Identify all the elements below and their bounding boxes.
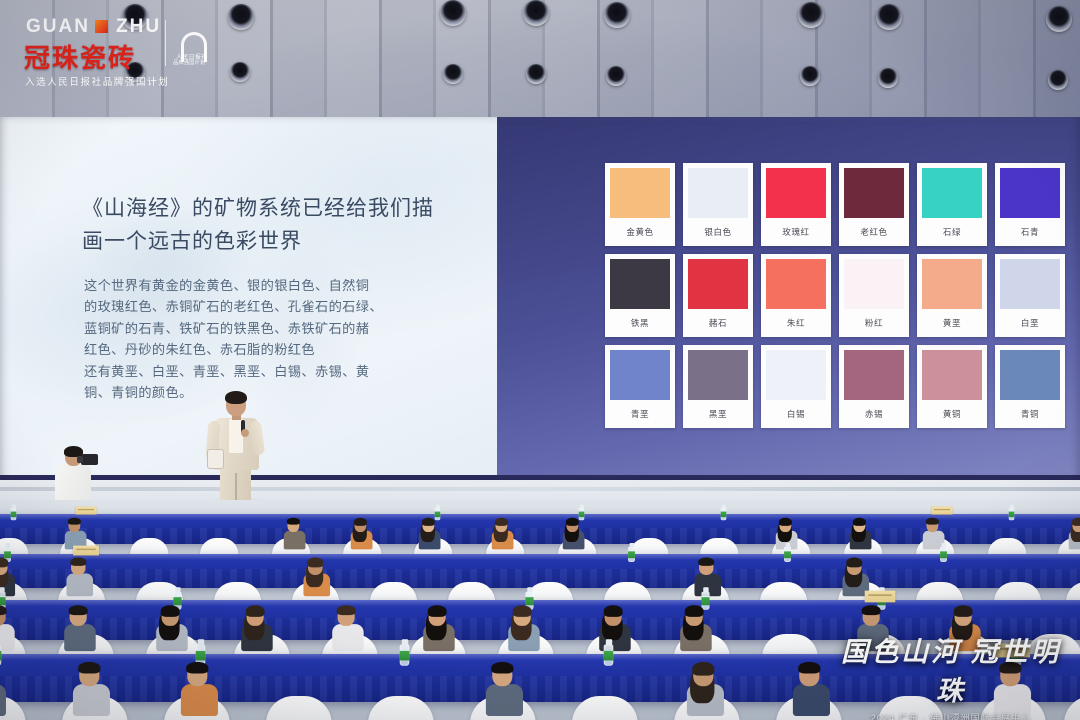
swatch-label: 黄铜 — [922, 400, 982, 428]
color-swatch-card: 黑垩 — [683, 345, 753, 428]
swatch-color-chip — [1000, 259, 1060, 309]
swatch-color-chip — [766, 350, 826, 400]
swatch-color-chip — [766, 259, 826, 309]
brand-logo: GUAN ZHU 冠珠瓷砖 入选人民日报社品牌强国计划 人民日报社 品牌强国计划 — [22, 16, 212, 90]
member-hair-top — [847, 558, 863, 568]
color-swatch-card: 粉红 — [839, 254, 909, 337]
color-swatch-card: 赭石 — [683, 254, 753, 337]
member-hair-top — [853, 518, 866, 526]
water-bottle-icon — [0, 639, 1, 666]
brand-name-cn: 冠珠瓷砖 — [24, 38, 136, 75]
member-torso — [0, 624, 14, 651]
swatch-label: 粉红 — [844, 309, 904, 337]
member-hair-top — [862, 605, 881, 615]
member-hair-top — [495, 518, 508, 526]
slide-body-line: 这个世界有黄金的金黄色、银的银白色、自然铜 — [84, 275, 434, 296]
member-hair-top — [698, 558, 714, 566]
swatch-color-chip — [688, 168, 748, 218]
name-card-icon — [864, 591, 895, 603]
member-hair-top — [798, 662, 820, 674]
swatch-color-chip — [688, 350, 748, 400]
color-swatch-card: 老红色 — [839, 163, 909, 246]
event-title: 国色山河 冠世明珠 — [836, 630, 1066, 708]
swatch-label: 金黄色 — [610, 218, 670, 246]
swatch-color-chip — [922, 259, 982, 309]
chair-back — [572, 696, 638, 720]
water-bottle-icon — [940, 543, 947, 562]
brand-name-en-right: ZHU — [116, 16, 161, 38]
member-hair-top — [245, 605, 264, 617]
swatch-color-chip — [766, 168, 826, 218]
member-hair-top — [513, 605, 532, 617]
audience-member — [777, 519, 794, 537]
spotlight-icon — [606, 66, 626, 86]
audience-member — [696, 559, 721, 586]
event-logo: 国色山河 冠世明珠 2024 广东 · 佛山潭洲国际会展中心 — [836, 630, 1066, 682]
spotlight-icon — [443, 64, 463, 84]
member-torso — [181, 684, 218, 716]
slide-body-line: 的玫瑰红色、赤铜矿石的老红色、孔雀石的石绿、 — [84, 296, 434, 317]
swatch-label: 赤锡 — [844, 400, 904, 428]
member-hair-top — [953, 605, 972, 617]
color-swatch-card: 石绿 — [917, 163, 987, 246]
chair-back — [1064, 696, 1080, 720]
audience-member — [924, 519, 941, 537]
color-swatch-card: 白锡 — [761, 345, 831, 428]
slide-heading: 《山海经》的矿物系统已经给我们描画一个远古的色彩世界 — [82, 192, 452, 257]
audience-member — [158, 607, 194, 644]
led-presentation-screen: 《山海经》的矿物系统已经给我们描画一个远古的色彩世界 这个世界有黄金的金黄色、银… — [0, 117, 1080, 487]
swatch-label: 石青 — [1000, 218, 1060, 246]
swatch-color-chip — [1000, 168, 1060, 218]
member-hair-top — [492, 662, 514, 674]
spotlight-icon — [230, 62, 250, 82]
swatch-color-chip — [844, 168, 904, 218]
swatch-label: 银白色 — [688, 218, 748, 246]
name-card-icon — [73, 546, 99, 556]
audience-member — [352, 519, 369, 537]
partner-arch-icon: 人民日报社 品牌强国计划 — [174, 32, 214, 66]
swatch-label: 老红色 — [844, 218, 904, 246]
audience-member — [564, 519, 581, 537]
color-swatch-card: 石青 — [995, 163, 1065, 246]
water-bottle-icon — [604, 639, 614, 666]
swatch-color-chip — [844, 350, 904, 400]
speaker-hair — [225, 391, 247, 404]
audience-member — [68, 559, 93, 586]
water-bottle-icon — [578, 505, 584, 521]
speaker-hand — [241, 429, 249, 437]
member-torso — [793, 684, 830, 716]
swatch-label: 黑垩 — [688, 400, 748, 428]
swatch-color-chip — [1000, 350, 1060, 400]
color-swatch-card: 黄铜 — [917, 345, 987, 428]
member-hair-top — [354, 518, 367, 526]
audience-chair — [1064, 696, 1080, 720]
color-swatch-card: 白垩 — [995, 254, 1065, 337]
water-bottle-icon — [400, 639, 410, 666]
audience-chair — [266, 696, 332, 720]
swatch-color-chip — [610, 168, 670, 218]
logo-divider — [165, 20, 166, 66]
member-hair-top — [287, 518, 300, 525]
spotlight-icon — [1046, 6, 1072, 32]
member-hair-top — [778, 518, 791, 526]
member-hair-top — [161, 605, 180, 617]
audience-member — [66, 607, 102, 644]
audience-member — [851, 519, 868, 537]
color-swatch-card: 赤锡 — [839, 345, 909, 428]
swatch-label: 铁黑 — [610, 309, 670, 337]
audience-member — [844, 559, 869, 586]
speaker-bag — [207, 449, 224, 469]
spotlight-icon — [798, 2, 824, 28]
member-hair-top — [71, 558, 87, 566]
brand-name-en-left: GUAN — [26, 16, 90, 38]
member-hair-top — [68, 518, 81, 525]
swatch-label: 玫瑰红 — [766, 218, 826, 246]
color-swatch-card: 玫瑰红 — [761, 163, 831, 246]
audience-member — [1070, 519, 1080, 537]
conference-photo-scene: 《山海经》的矿物系统已经给我们描画一个远古的色彩世界 这个世界有黄金的金黄色、银… — [0, 0, 1080, 720]
member-torso — [486, 684, 523, 716]
water-bottle-icon — [434, 505, 440, 521]
chair-back — [368, 696, 434, 720]
audience-member — [243, 607, 279, 644]
audience-member — [488, 664, 537, 716]
audience-member — [183, 664, 232, 716]
member-hair-top — [604, 605, 623, 617]
spotlight-icon — [523, 0, 549, 26]
spotlight-icon — [876, 4, 902, 30]
audience-member — [66, 519, 83, 537]
water-bottle-icon — [628, 543, 635, 562]
color-swatch-card: 金黄色 — [605, 163, 675, 246]
color-swatch-card: 青垩 — [605, 345, 675, 428]
member-hair-top — [307, 558, 323, 568]
audience-member — [420, 519, 437, 537]
audience-chair — [572, 696, 638, 720]
stage-speaker — [205, 393, 267, 505]
color-swatch-card: 青铜 — [995, 345, 1065, 428]
brand-mark-square — [95, 20, 108, 33]
partner-line-2: 品牌强国计划 — [173, 59, 205, 66]
member-torso — [284, 531, 306, 550]
member-hair-top — [566, 518, 579, 526]
swatch-label: 赭石 — [688, 309, 748, 337]
swatch-label: 青垩 — [610, 400, 670, 428]
color-swatch-card: 铁黑 — [605, 254, 675, 337]
swatch-label: 石绿 — [922, 218, 982, 246]
audience-chair — [368, 696, 434, 720]
member-torso — [65, 624, 97, 651]
slide-body-line: 还有黄垩、白垩、青垩、黑垩、白锡、赤锡、黄 — [84, 361, 434, 382]
audience-member — [305, 559, 330, 586]
stage-edge — [0, 487, 1080, 491]
chair-back — [266, 696, 332, 720]
audience-member — [334, 607, 370, 644]
swatch-color-chip — [922, 350, 982, 400]
member-torso — [73, 684, 110, 716]
audience-member — [493, 519, 510, 537]
slide-body-line: 红色、丹砂的朱红色、赤石脂的粉红色 — [84, 339, 434, 360]
member-hair-top — [685, 605, 704, 617]
member-hair-top — [337, 605, 356, 615]
event-subtitle: 2024 广东 · 佛山潭洲国际会展中心 — [836, 711, 1066, 720]
member-hair-top — [926, 518, 939, 525]
name-card-icon — [75, 506, 96, 514]
member-torso — [0, 684, 6, 716]
slide-body-text: 这个世界有黄金的金黄色、银的银白色、自然铜 的玫瑰红色、赤铜矿石的老红色、孔雀石… — [84, 275, 434, 403]
swatch-color-chip — [844, 259, 904, 309]
audience-member — [75, 664, 124, 716]
water-bottle-icon — [1008, 505, 1014, 521]
color-swatch-card: 朱红 — [761, 254, 831, 337]
swatch-color-chip — [610, 350, 670, 400]
audience-member — [510, 607, 546, 644]
spotlight-icon — [228, 4, 254, 30]
audience-member — [425, 607, 461, 644]
member-torso — [67, 574, 94, 597]
color-swatch-grid: 金黄色银白色玫瑰红老红色石绿石青铁黑赭石朱红粉红黄垩白垩青垩黑垩白锡赤锡黄铜青铜 — [605, 163, 1065, 428]
audience-member — [0, 559, 15, 586]
video-camera-icon — [81, 454, 98, 465]
water-bottle-icon — [784, 543, 791, 562]
audience-member — [689, 664, 738, 716]
spotlight-icon — [1048, 70, 1068, 90]
swatch-color-chip — [610, 259, 670, 309]
brand-tagline: 入选人民日报社品牌强国计划 — [25, 74, 169, 88]
water-bottle-icon — [720, 505, 726, 521]
swatch-color-chip — [688, 259, 748, 309]
member-hair-top — [422, 518, 435, 526]
spotlight-icon — [440, 0, 466, 26]
member-hair-top — [692, 662, 714, 676]
water-bottle-icon — [10, 505, 16, 521]
spotlight-icon — [878, 68, 898, 88]
member-hair-top — [0, 605, 6, 615]
member-hair-top — [1072, 518, 1080, 526]
swatch-label: 黄垩 — [922, 309, 982, 337]
member-torso — [332, 624, 364, 651]
member-hair-top — [78, 662, 100, 674]
slide-swatch-panel: 金黄色银白色玫瑰红老红色石绿石青铁黑赭石朱红粉红黄垩白垩青垩黑垩白锡赤锡黄铜青铜 — [497, 117, 1080, 475]
swatch-color-chip — [922, 168, 982, 218]
name-card-icon — [931, 506, 952, 514]
color-swatch-card: 银白色 — [683, 163, 753, 246]
color-swatch-card: 黄垩 — [917, 254, 987, 337]
swatch-label: 朱红 — [766, 309, 826, 337]
audience-member — [0, 607, 20, 644]
audience-member — [682, 607, 718, 644]
swatch-label: 青铜 — [1000, 400, 1060, 428]
member-hair-top — [69, 605, 88, 615]
member-hair-top — [428, 605, 447, 617]
audience-member — [285, 519, 302, 537]
swatch-label: 白锡 — [766, 400, 826, 428]
spotlight-icon — [604, 2, 630, 28]
member-hair-top — [0, 558, 8, 568]
swatch-label: 白垩 — [1000, 309, 1060, 337]
audience-member — [0, 664, 20, 716]
spotlight-icon — [526, 64, 546, 84]
spotlight-icon — [800, 66, 820, 86]
slide-body-line: 蓝铜矿的石青、铁矿石的铁黑色、赤铁矿石的赭 — [84, 318, 434, 339]
member-hair-top — [186, 662, 208, 674]
